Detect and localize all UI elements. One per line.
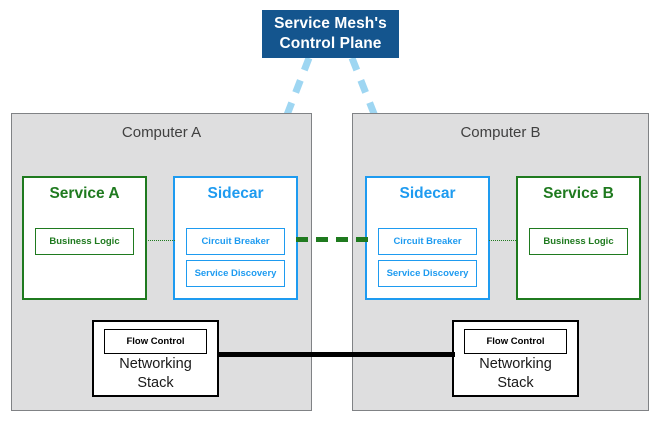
sidecar-b-circuit-breaker: Circuit Breaker — [378, 228, 477, 255]
networking-stack-b-label-line2: Stack — [454, 374, 577, 393]
computer-a-title: Computer A — [12, 124, 311, 141]
sidecar-to-sidecar-mesh-connector — [296, 237, 368, 242]
sidecar-a-circuit-breaker: Circuit Breaker — [186, 228, 285, 255]
service-b-to-sidecar-b-connector — [489, 240, 518, 241]
networking-stack-b-label-line1: Networking — [454, 355, 577, 374]
flow-control-b: Flow Control — [464, 329, 567, 354]
service-b-title: Service B — [518, 185, 639, 203]
service-a-to-sidecar-a-connector — [146, 240, 175, 241]
service-b-business-logic: Business Logic — [529, 228, 628, 255]
sidecar-b-service-discovery: Service Discovery — [378, 260, 477, 287]
sidecar-b-title: Sidecar — [367, 185, 488, 203]
service-a-title: Service A — [24, 185, 145, 203]
networking-stack-wire-connector — [217, 352, 455, 357]
networking-stack-b-box: Flow Control Networking Stack — [452, 320, 579, 397]
sidecar-a-title: Sidecar — [175, 185, 296, 203]
networking-stack-a-label-line2: Stack — [94, 374, 217, 393]
sidecar-a-box: Sidecar Circuit Breaker Service Discover… — [173, 176, 298, 300]
networking-stack-a-box: Flow Control Networking Stack — [92, 320, 219, 397]
flow-control-a: Flow Control — [104, 329, 207, 354]
sidecar-b-box: Sidecar Circuit Breaker Service Discover… — [365, 176, 490, 300]
networking-stack-a-label-line1: Networking — [94, 355, 217, 374]
sidecar-a-service-discovery: Service Discovery — [186, 260, 285, 287]
control-plane-line1: Service Mesh's — [274, 14, 387, 34]
diagram-canvas: Service Mesh's Control Plane Computer A … — [0, 0, 661, 421]
control-plane-box: Service Mesh's Control Plane — [262, 10, 399, 58]
service-b-box: Service B Business Logic — [516, 176, 641, 300]
control-plane-line2: Control Plane — [274, 34, 387, 54]
networking-stack-b-label: Networking Stack — [454, 355, 577, 393]
service-a-business-logic: Business Logic — [35, 228, 134, 255]
service-a-box: Service A Business Logic — [22, 176, 147, 300]
computer-b-title: Computer B — [353, 124, 648, 141]
networking-stack-a-label: Networking Stack — [94, 355, 217, 393]
